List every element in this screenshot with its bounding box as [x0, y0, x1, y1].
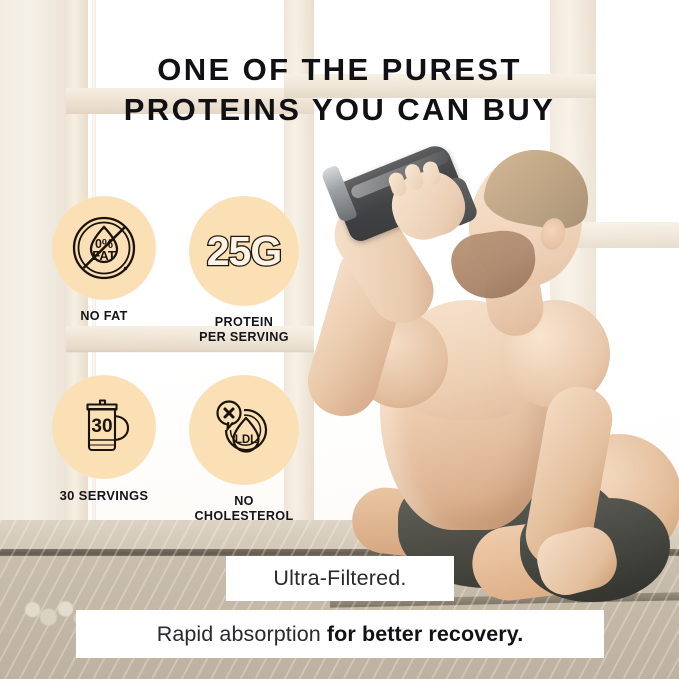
svg-text:FAT: FAT	[92, 248, 116, 263]
claim-text-secondary: Rapid absorption for better recovery.	[157, 622, 524, 647]
protein-grams-icon: 25G	[207, 228, 282, 275]
no-fat-droplet-icon: 0% FAT	[67, 211, 141, 285]
page-title: ONE OF THE PUREST PROTEINS YOU CAN BUY	[0, 50, 679, 130]
claim-text-secondary-regular: Rapid absorption	[157, 622, 327, 646]
feature-badge-label: PROTEIN PER SERVING	[199, 315, 289, 345]
badge-disc: 30	[52, 375, 156, 479]
no-cholesterol-ldl-icon: LDL	[206, 392, 282, 468]
feature-badge-protein-per-serving: 25G PROTEIN PER SERVING	[174, 196, 314, 345]
badge-disc: LDL	[189, 375, 299, 485]
badge-disc: 0% FAT	[52, 196, 156, 300]
headline-line-1: ONE OF THE PUREST	[0, 50, 679, 90]
shaker-cup-icon: 30	[67, 390, 141, 464]
feature-badge-row-1: 0% FAT NO FAT 25G PROTEIN PER SERVING	[34, 196, 314, 345]
feature-badge-grid: 0% FAT NO FAT 25G PROTEIN PER SERVING	[34, 196, 314, 524]
claim-text-secondary-bold: for better recovery.	[327, 622, 523, 646]
claim-banner-ultra-filtered: Ultra-Filtered.	[226, 556, 454, 601]
claim-banner-rapid-absorption: Rapid absorption for better recovery.	[76, 610, 604, 658]
product-infographic: ONE OF THE PUREST PROTEINS YOU CAN BUY	[0, 0, 679, 679]
feature-badge-no-fat: 0% FAT NO FAT	[34, 196, 174, 345]
badge-disc: 25G	[189, 196, 299, 306]
claim-text-primary: Ultra-Filtered.	[273, 566, 406, 591]
feature-badge-label: NO CHOLESTEROL	[194, 494, 293, 524]
svg-text:30: 30	[91, 416, 112, 437]
feature-badge-no-cholesterol: LDL NO CHOLESTEROL	[174, 375, 314, 524]
headline-line-2: PROTEINS YOU CAN BUY	[0, 90, 679, 130]
feature-badge-label: 30 SERVINGS	[60, 488, 149, 503]
feature-badge-row-2: 30 30 SERVINGS	[34, 375, 314, 524]
feature-badge-30-servings: 30 30 SERVINGS	[34, 375, 174, 524]
feature-badge-label: NO FAT	[80, 309, 127, 324]
svg-text:LDL: LDL	[235, 434, 257, 446]
